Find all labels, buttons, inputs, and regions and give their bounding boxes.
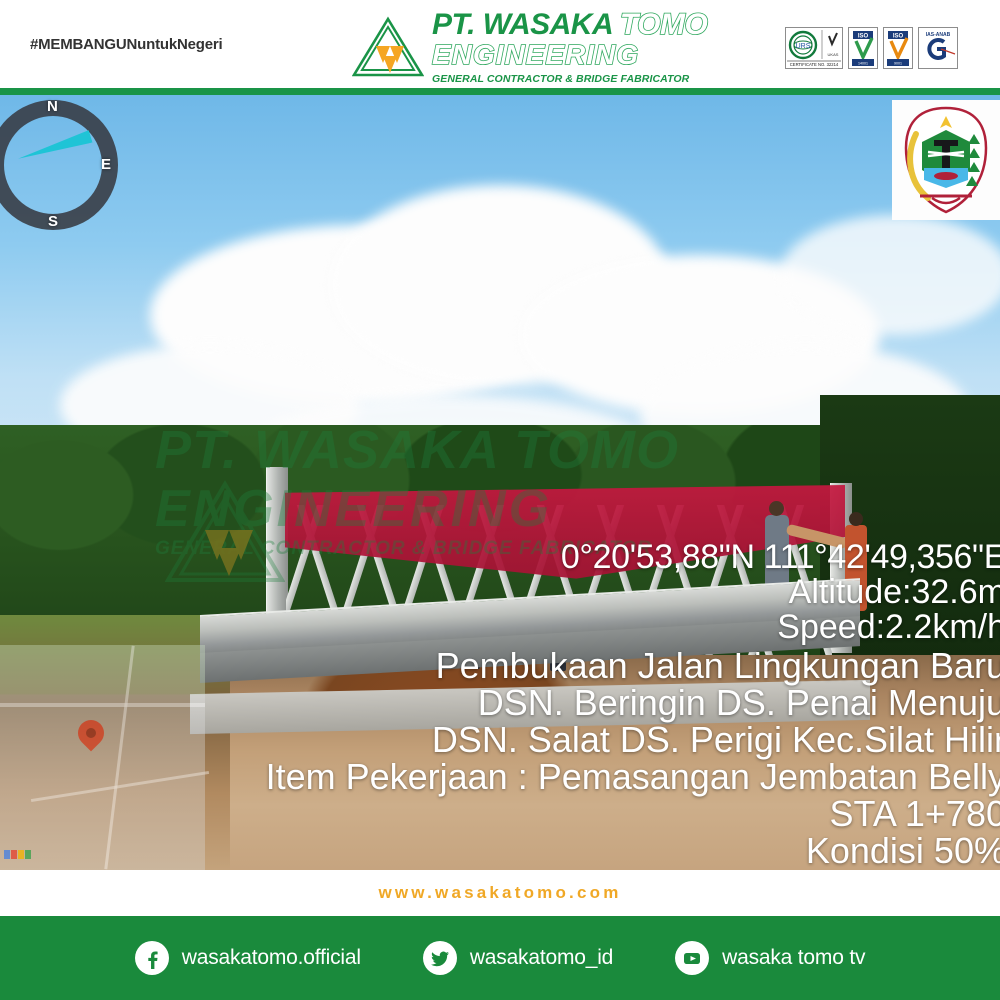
cloud	[780, 215, 1000, 335]
gps-speed: Speed:2.2km/h	[0, 610, 1000, 645]
logo-tagline: GENERAL CONTRACTOR & BRIDGE FABRICATOR	[432, 72, 692, 86]
gps-altitude: Altitude:32.6m	[0, 575, 1000, 610]
gps-description-2: DSN. Beringin DS. Penai Menuju	[0, 684, 1000, 721]
iso-9001-quality-badge: ISO 9001	[883, 27, 913, 69]
compass-overlay: N E S	[0, 100, 118, 230]
gps-station: STA 1+780	[0, 795, 1000, 832]
logo-outline-text: TOMO	[612, 8, 707, 41]
svg-text:CERTIFICATE NO. 32214: CERTIFICATE NO. 32214	[790, 62, 839, 67]
site-photo: N E S	[0, 95, 1000, 870]
compass-north-label: N	[47, 98, 58, 115]
campaign-hashtag: #MEMBANGUNuntukNegeri	[30, 36, 223, 53]
hashtag-bold-part: #MEMBANGU	[30, 36, 127, 53]
compass-south-label: S	[48, 213, 58, 230]
svg-text:ISO: ISO	[858, 34, 869, 40]
logo-wordmark: PT. WASAKA TOMO ENGINEERING GENERAL CONT…	[432, 10, 692, 86]
compass-east-label: E	[101, 156, 111, 173]
header-bar: #MEMBANGUNuntukNegeri PT. WASAKA TOMO EN…	[0, 0, 1000, 88]
svg-text:IAS-ANAB: IAS-ANAB	[926, 32, 951, 38]
logo-solid-text: PT. WASAKA	[432, 8, 612, 41]
urs-iso-certificate-badge: URS CERTIFICATE NO. 32214 UKAS	[785, 27, 843, 69]
facebook-icon	[135, 941, 169, 975]
logo-line-1: PT. WASAKA TOMO	[432, 10, 692, 40]
facebook-handle: wasakatomo.official	[182, 946, 361, 970]
gps-description-3: DSN. Salat DS. Perigi Kec.Silat Hilir	[0, 721, 1000, 758]
gps-camera-overlay: 0°20'53,88"N 111°42'49,356"E Altitude:32…	[0, 540, 1000, 870]
social-link-twitter[interactable]: wasakatomo_id	[423, 941, 613, 975]
gps-coordinates: 0°20'53,88"N 111°42'49,356"E	[0, 540, 1000, 575]
gps-description-1: Pembukaan Jalan Lingkungan Baru	[0, 647, 1000, 684]
svg-text:UKAS: UKAS	[828, 52, 839, 57]
hashtag-rest-part: NuntukNegeri	[127, 36, 223, 53]
twitter-handle: wasakatomo_id	[470, 946, 613, 970]
website-strip: www.wasakatomo.com	[0, 870, 1000, 916]
youtube-icon	[675, 941, 709, 975]
triangle-logo-icon	[352, 16, 424, 78]
twitter-icon	[423, 941, 457, 975]
svg-text:URS: URS	[796, 43, 811, 50]
social-link-youtube[interactable]: wasaka tomo tv	[675, 941, 865, 975]
website-url[interactable]: www.wasakatomo.com	[378, 883, 621, 903]
svg-text:14001: 14001	[858, 61, 868, 65]
svg-text:ISO: ISO	[893, 34, 904, 40]
gps-description-4: Item Pekerjaan : Pemasangan Jembatan Bel…	[0, 758, 1000, 795]
social-footer: wasakatomo.official wasakatomo_id wasaka…	[0, 916, 1000, 1000]
svg-text:9001: 9001	[894, 61, 902, 65]
logo-line-2: ENGINEERING	[432, 40, 692, 70]
ias-anab-accreditation-badge: IAS-ANAB	[918, 27, 958, 69]
certification-badges: URS CERTIFICATE NO. 32214 UKAS ISO 14001	[785, 27, 958, 69]
social-link-facebook[interactable]: wasakatomo.official	[135, 941, 361, 975]
regional-government-crest	[892, 100, 1000, 220]
company-logo: PT. WASAKA TOMO ENGINEERING GENERAL CONT…	[352, 10, 692, 82]
gps-condition: Kondisi 50%	[0, 832, 1000, 869]
iso-14001-environmental-badge: ISO 14001	[848, 27, 878, 69]
header-divider	[0, 88, 1000, 95]
poster-page: #MEMBANGUNuntukNegeri PT. WASAKA TOMO EN…	[0, 0, 1000, 1000]
youtube-handle: wasaka tomo tv	[722, 946, 865, 970]
